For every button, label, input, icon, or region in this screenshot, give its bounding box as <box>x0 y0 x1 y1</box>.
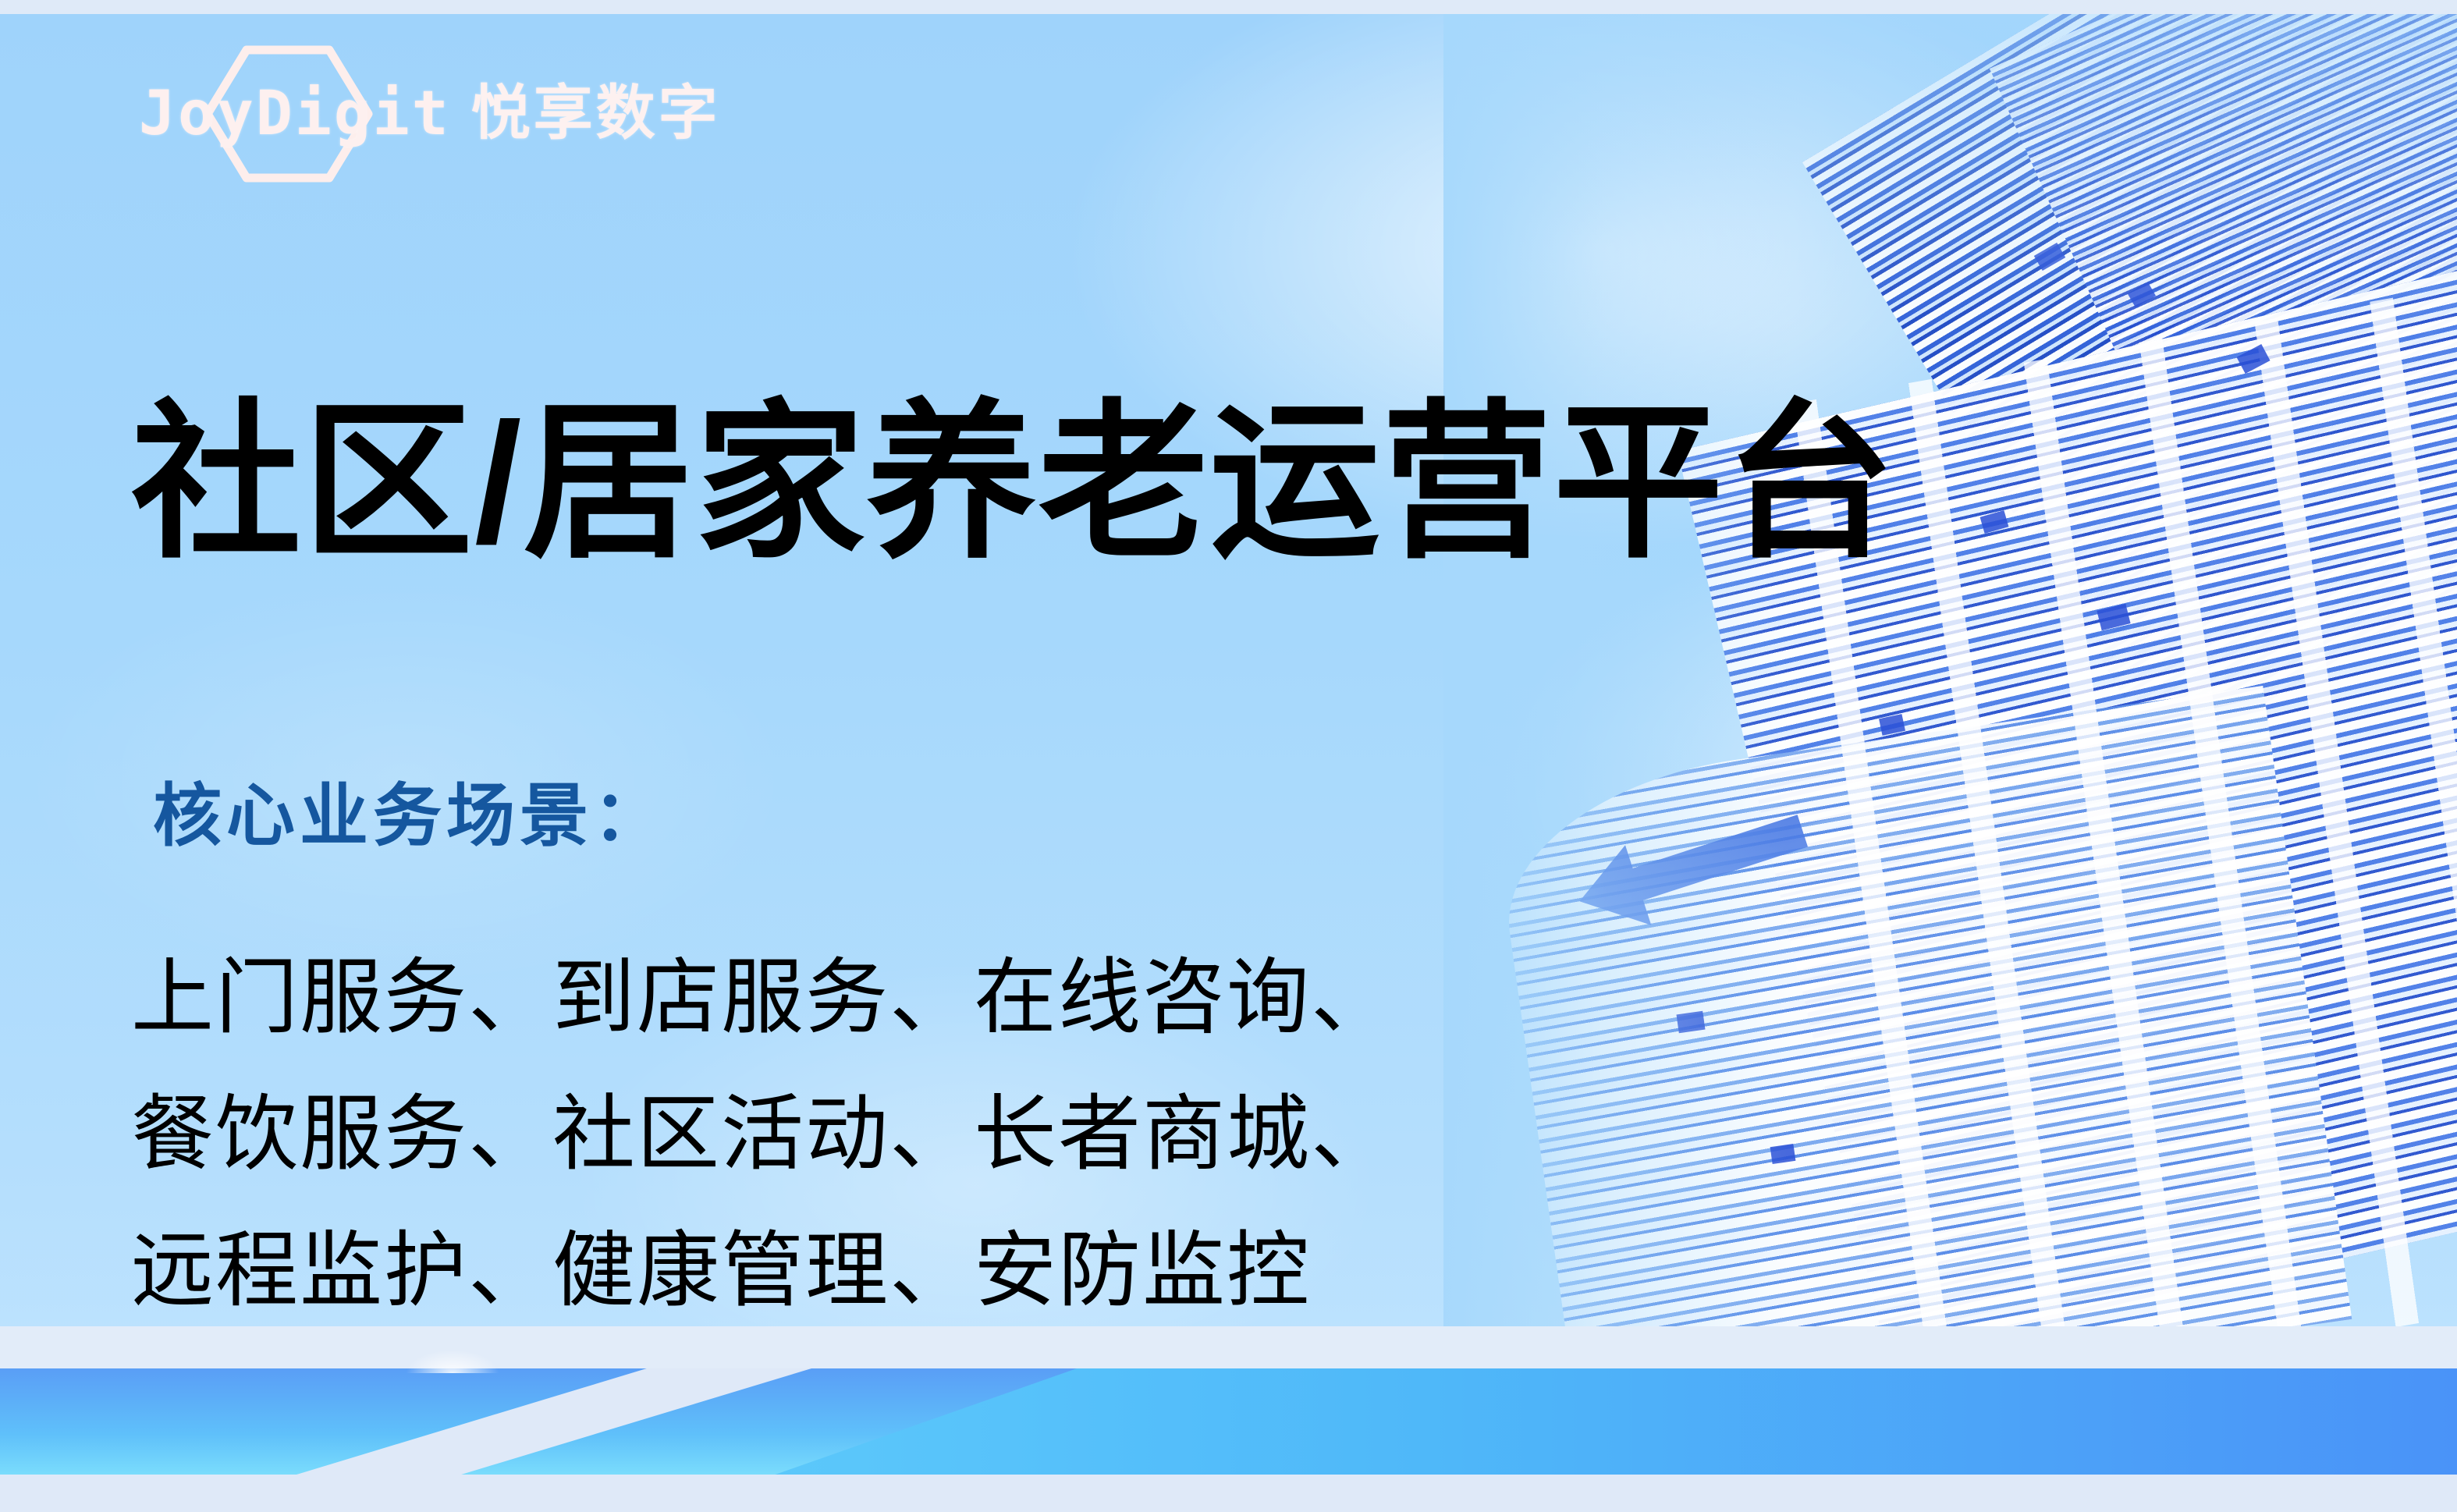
section-heading: 核心业务场景： <box>153 782 666 850</box>
page-title: 社区/居家养老运营平台 <box>131 389 1897 579</box>
scenario-line: 上门服务、到店服务、在线咨询、 <box>131 930 1395 1067</box>
slide-root: JoyDigit 悦享数字 社区/居家养老运营平台 核心业务场景： 上门服务、到… <box>0 0 2457 1512</box>
bottom-decorative-band <box>0 1326 2457 1512</box>
brand-logo[interactable]: JoyDigit 悦享数字 <box>139 72 721 156</box>
top-edge-strip <box>0 0 2457 14</box>
scenario-line: 餐饮服务、社区活动、长者商城、 <box>131 1067 1395 1203</box>
band-feather-accent <box>406 1350 499 1373</box>
brand-mark-text: JoyDigit <box>139 83 451 144</box>
scenario-line: 远程监护、健康管理、安防监控 <box>131 1203 1395 1340</box>
band-bottom-strip <box>0 1475 2457 1512</box>
scenario-list: 上门服务、到店服务、在线咨询、 餐饮服务、社区活动、长者商城、 远程监护、健康管… <box>131 930 1395 1340</box>
brand-name-cn: 悦享数字 <box>471 84 721 144</box>
